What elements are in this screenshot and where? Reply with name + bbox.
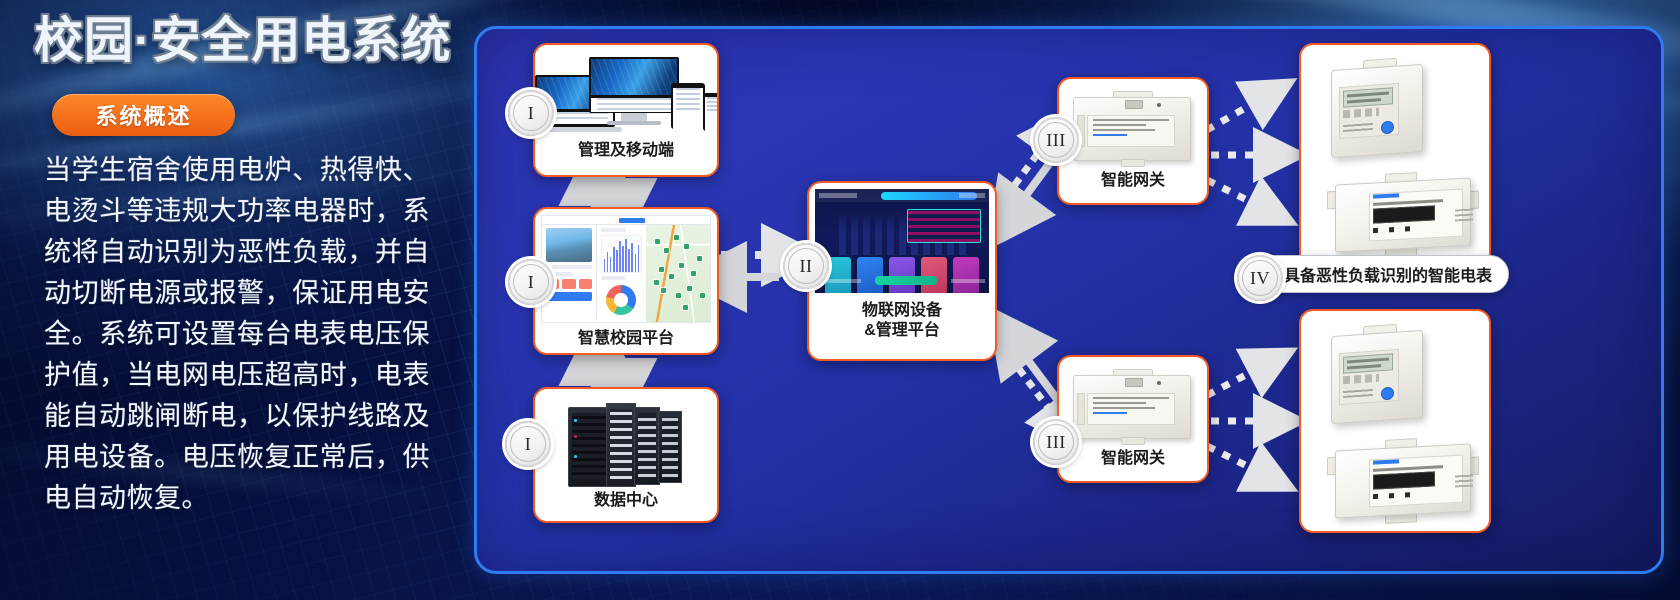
smart-gateway-icon	[1059, 87, 1207, 171]
energy-meter-icon	[1327, 435, 1479, 527]
arrow-management-campus	[599, 177, 617, 205]
node-card-management[interactable]: 管理及移动端	[533, 43, 719, 177]
campus-dashboard-icon	[541, 215, 711, 323]
node-card-meters-bottom[interactable]	[1299, 309, 1491, 533]
devices-icon	[535, 53, 717, 141]
architecture-diagram-panel: 管理及移动端 I	[474, 26, 1664, 574]
energy-meter-icon	[1319, 325, 1439, 429]
step-badge-iot-platform: II	[783, 243, 829, 289]
energy-meter-icon	[1327, 169, 1479, 261]
node-label-gateway-top: 智能网关	[1059, 171, 1207, 191]
arrow-campus-iot	[721, 255, 779, 277]
iot-dashboard-icon	[815, 189, 989, 293]
node-card-iot-platform[interactable]: 物联网设备 &管理平台	[807, 181, 997, 361]
step-badge-smart-meter: IV	[1237, 255, 1283, 301]
node-label-iot-platform-line2: &管理平台	[815, 321, 989, 341]
node-label-iot-platform-line1: 物联网设备	[815, 301, 989, 321]
callout-label: 具备恶性负载识别的智能电表	[1284, 262, 1492, 286]
node-label-datacenter: 数据中心	[535, 491, 717, 511]
server-rack-icon	[535, 399, 717, 491]
page-title: 校园·安全用电系统	[34, 14, 451, 69]
node-card-gateway-top[interactable]: 智能网关	[1057, 77, 1209, 205]
node-label-campus-platform: 智慧校园平台	[541, 329, 711, 349]
step-badge-gateway-top: III	[1033, 117, 1079, 163]
node-label-gateway-bottom: 智能网关	[1059, 449, 1207, 469]
step-badge-datacenter: I	[505, 421, 551, 467]
step-badge-gateway-bottom: III	[1033, 419, 1079, 465]
energy-meter-icon	[1319, 59, 1439, 163]
step-badge-campus-platform: I	[508, 259, 554, 305]
system-description: 当学生宿舍使用电炉、热得快、电烫斗等违规大功率电器时，系统将自动识别为恶性负载，…	[44, 150, 430, 519]
hero-text-column: 校园·安全用电系统 系统概述 当学生宿舍使用电炉、热得快、电烫斗等违规大功率电器…	[0, 0, 470, 600]
node-card-gateway-bottom[interactable]: 智能网关	[1057, 355, 1209, 483]
arrow-campus-datacenter	[599, 355, 617, 385]
node-label-management: 管理及移动端	[535, 141, 717, 161]
node-card-campus-platform[interactable]: 智慧校园平台	[533, 207, 719, 355]
smart-gateway-icon	[1059, 365, 1207, 449]
step-badge-management: I	[508, 90, 554, 136]
node-card-meters-top[interactable]	[1299, 43, 1491, 267]
section-badge: 系统概述	[52, 94, 235, 136]
node-card-datacenter[interactable]: 数据中心	[533, 387, 719, 523]
